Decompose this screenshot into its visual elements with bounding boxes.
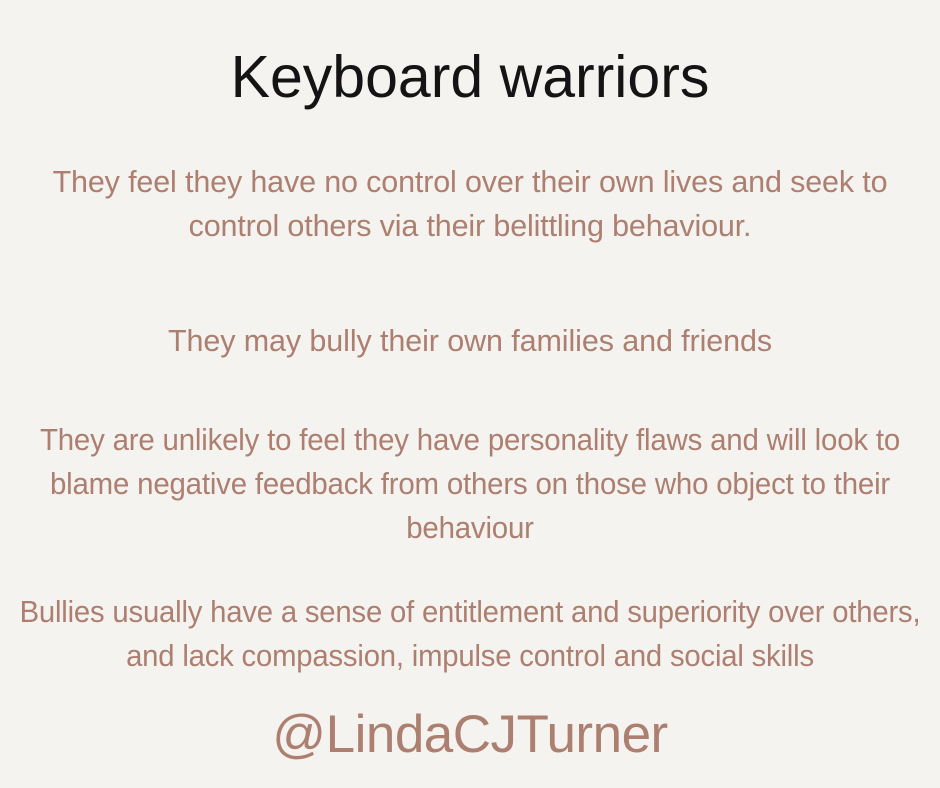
body-paragraph-4: Bullies usually have a sense of entitlem…: [19, 590, 921, 678]
body-paragraph-3: They are unlikely to feel they have pers…: [36, 418, 905, 550]
author-handle: @LindaCJTurner: [0, 702, 940, 768]
quote-card: Keyboard warriors They feel they have no…: [0, 0, 940, 788]
page-title: Keyboard warriors: [0, 40, 940, 114]
body-paragraph-2: They may bully their own families and fr…: [20, 319, 920, 363]
body-text-block: They feel they have no control over thei…: [0, 160, 940, 678]
body-paragraph-1: They feel they have no control over thei…: [20, 160, 920, 248]
